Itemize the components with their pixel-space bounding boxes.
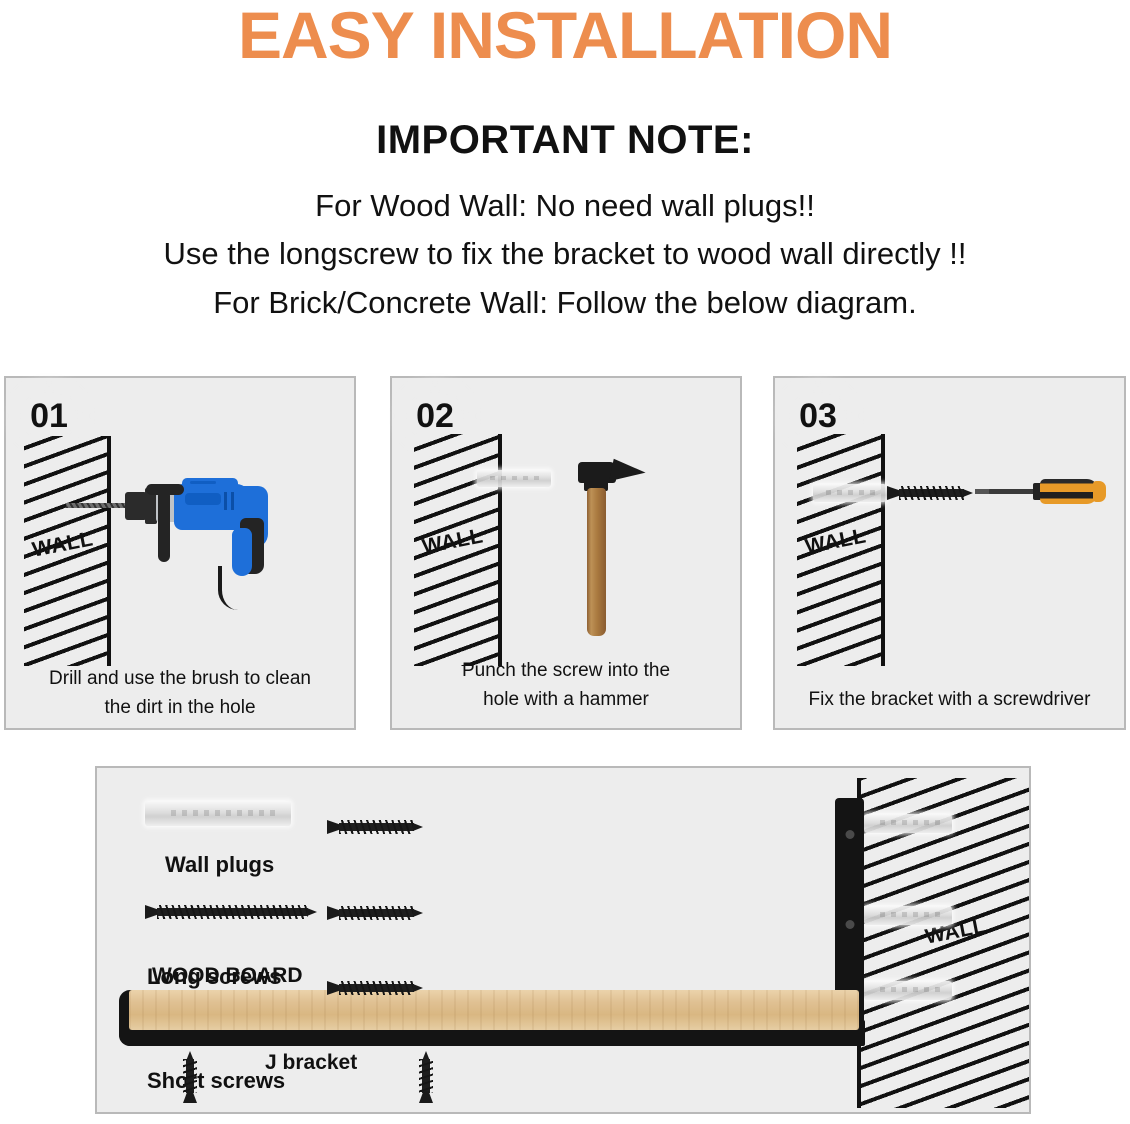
step-caption-02-line2: hole with a hammer [483, 689, 649, 710]
bracket-hole-2 [845, 920, 854, 929]
important-note-heading: IMPORTANT NOTE: [0, 118, 1130, 163]
assembly-screw-v-1 [183, 1051, 197, 1103]
assembly-screw-h-1 [327, 820, 423, 834]
step-panel-01: 01 WALL Drill and use the brush to clean… [4, 376, 356, 730]
page-title: EASY INSTALLATION [0, 2, 1130, 68]
bracket-hole-1 [845, 830, 854, 839]
screw-tip [963, 489, 973, 497]
hammer-claw [609, 459, 647, 489]
screw-thread [339, 906, 414, 920]
screwdriver-shaft [989, 489, 1037, 494]
step-number-badge-02: 02 [408, 392, 462, 440]
long-screw-icon-03 [887, 486, 973, 500]
drill-bit [66, 503, 128, 508]
drill-side-handle [158, 490, 170, 562]
parts-assembly-panel: Wall plugs Long screws Short screws WALL… [95, 766, 1031, 1114]
step-caption-02: Punch the screw into the hole with a ham… [392, 657, 740, 714]
wall-plug-icon-legend [145, 801, 291, 826]
note-line-2: Use the longscrew to fix the bracket to … [0, 236, 1130, 272]
screw-tip [413, 823, 423, 831]
step-number-badge-01: 01 [22, 392, 76, 440]
wall-plug-icon-assembly-1 [864, 814, 952, 833]
assembly-screw-v-2 [419, 1051, 433, 1103]
wall-edge-line [881, 434, 885, 666]
screw-thread [183, 1059, 197, 1093]
legend-label-wall-plugs: Wall plugs [165, 852, 274, 878]
screw-thread [419, 1059, 433, 1093]
step-caption-03: Fix the bracket with a screwdriver [775, 686, 1124, 715]
screw-thread [157, 905, 308, 919]
note-line-3: For Brick/Concrete Wall: Follow the belo… [0, 285, 1130, 321]
assembly-screw-h-3 [327, 981, 423, 995]
drill-side-handle-bar [146, 484, 184, 495]
wood-board [129, 990, 859, 1030]
wall-edge-line [107, 436, 111, 666]
step-caption-03-line1: Fix the bracket with a screwdriver [809, 689, 1091, 710]
step-number-badge-03: 03 [791, 392, 845, 440]
step-caption-01-line2: the dirt in the hole [104, 697, 255, 718]
screwdriver-grip [1040, 479, 1098, 504]
screwdriver-cap [1093, 481, 1106, 502]
long-screw-icon-legend [145, 905, 317, 919]
hammer-handle [587, 488, 606, 636]
wall-plug-icon-assembly-3 [864, 981, 952, 1000]
drill-top-shell [182, 478, 238, 492]
note-line-1: For Wood Wall: No need wall plugs!! [0, 188, 1130, 224]
step-caption-01: Drill and use the brush to clean the dir… [6, 665, 354, 722]
assembly-screw-h-2 [327, 906, 423, 920]
step-caption-02-line1: Punch the screw into the [462, 660, 670, 681]
screw-thread [339, 820, 414, 834]
screw-thread [899, 486, 964, 500]
step-panel-02: 02 WALL Punch the screw into the hole wi… [390, 376, 742, 730]
screw-tip [413, 909, 423, 917]
screw-tip [307, 908, 317, 916]
wood-board-label: WOOD BOARD [152, 964, 303, 988]
wall-plug-icon-assembly-2 [864, 906, 952, 925]
screw-thread [339, 981, 414, 995]
screw-tip [413, 984, 423, 992]
wall-plug-icon-02 [477, 470, 551, 487]
j-bracket-label: J bracket [265, 1051, 357, 1075]
drill-power-cord [218, 566, 250, 610]
step-panel-03: 03 WALL Fix the bracket with a screwdriv… [773, 376, 1126, 730]
step-caption-01-line1: Drill and use the brush to clean [49, 668, 311, 689]
wall-edge-line [498, 434, 502, 666]
wall-plug-icon-03 [813, 484, 887, 502]
drill-chuck [125, 492, 147, 520]
